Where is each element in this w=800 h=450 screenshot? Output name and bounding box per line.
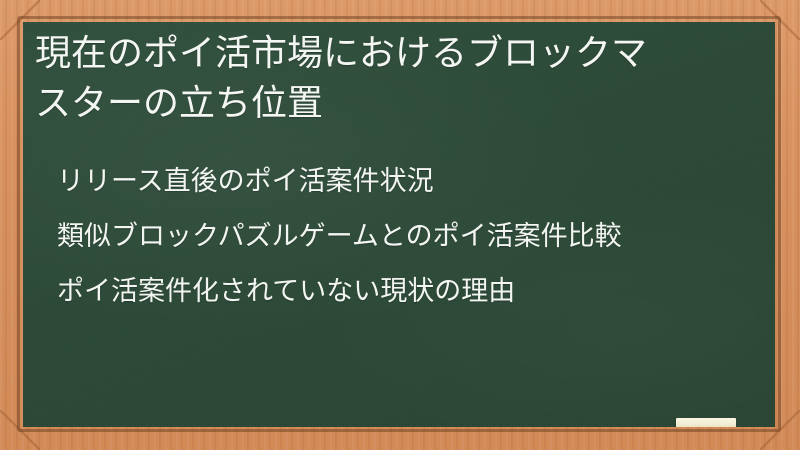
slide-title: 現在のポイ活市場におけるブロックマ スターの立ち位置	[35, 28, 751, 128]
chalk-stick-icon	[676, 418, 736, 427]
chalkboard-slide: 現在のポイ活市場におけるブロックマ スターの立ち位置 リリース直後のポイ活案件状…	[0, 0, 800, 450]
list-item: 類似ブロックパズルゲームとのポイ活案件比較	[57, 209, 757, 264]
list-item: ポイ活案件化されていない現状の理由	[57, 264, 757, 319]
chalkboard-surface: 現在のポイ活市場におけるブロックマ スターの立ち位置 リリース直後のポイ活案件状…	[23, 22, 775, 427]
list-item: リリース直後のポイ活案件状況	[57, 154, 757, 209]
agenda-list: リリース直後のポイ活案件状況 類似ブロックパズルゲームとのポイ活案件比較 ポイ活…	[57, 154, 757, 319]
